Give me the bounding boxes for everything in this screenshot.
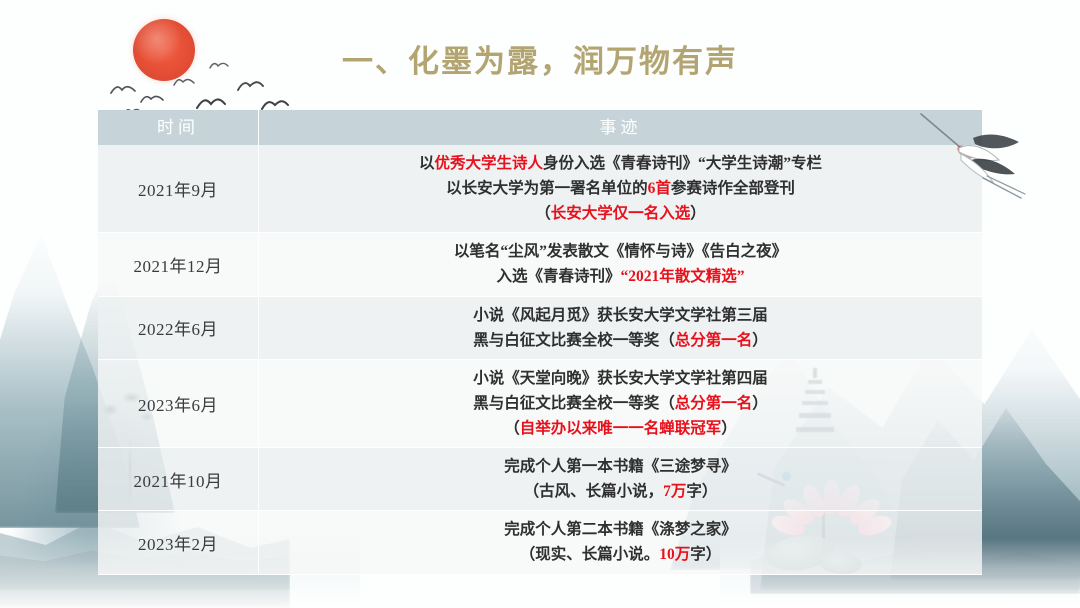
plain-text: 字）: [686, 483, 717, 500]
plain-text: 以笔名“尘风”发表散文《情怀与诗》《告白之夜》: [454, 243, 787, 260]
table-row: 2021年12月以笔名“尘风”发表散文《情怀与诗》《告白之夜》入选《青春诗刊》“…: [98, 233, 982, 296]
deed-line: 黑与白征文比赛全校一等奖（总分第一名）: [263, 328, 978, 353]
page-title: 一、化墨为露，润万物有声: [0, 36, 1080, 81]
bird-icon: [110, 82, 136, 96]
cell-deed: 完成个人第二本书籍《涤梦之家》（现实、长篇小说。10万字）: [259, 511, 983, 574]
plain-text: 以长安大学为第一署名单位的: [446, 180, 648, 197]
table-row: 2021年10月完成个人第一本书籍《三途梦寻》（古风、长篇小说，7万字）: [98, 448, 982, 511]
deed-line: 完成个人第二本书籍《涤梦之家》: [263, 517, 978, 542]
deed-line: （自举办以来唯一一名蝉联冠军）: [263, 416, 978, 441]
table-header-row: 时间 事迹: [98, 110, 982, 145]
bird-icon: [196, 95, 226, 111]
deed-line: 完成个人第一本书籍《三途梦寻》: [263, 454, 978, 479]
highlighted-text: “2021年散文精选”: [621, 268, 745, 285]
deed-line: 入选《青春诗刊》“2021年散文精选”: [263, 264, 978, 289]
plain-text: （: [535, 205, 551, 222]
slide-canvas: 一、化墨为露，润万物有声 时间 事迹 2021年9月以优秀大学生诗人身份入选《青…: [0, 0, 1080, 608]
plain-text: 完成个人第一本书籍《三途梦寻》: [504, 458, 737, 475]
cell-deed: 小说《天堂向晚》获长安大学文学社第四届黑与白征文比赛全校一等奖（总分第一名）（自…: [259, 359, 983, 447]
table-row: 2023年6月小说《天堂向晚》获长安大学文学社第四届黑与白征文比赛全校一等奖（总…: [98, 359, 982, 447]
cell-time: 2023年6月: [98, 359, 259, 447]
deed-line: （现实、长篇小说。10万字）: [263, 542, 978, 567]
table-body: 2021年9月以优秀大学生诗人身份入选《青春诗刊》“大学生诗潮”专栏以长安大学为…: [98, 145, 982, 574]
deed-line: 小说《风起月觅》获长安大学文学社第三届: [263, 303, 978, 328]
cell-time: 2022年6月: [98, 296, 259, 359]
column-header-deed: 事迹: [259, 110, 983, 145]
plain-text: 身份入选《青春诗刊》“大学生诗潮”专栏: [543, 155, 822, 172]
deed-line: 以长安大学为第一署名单位的6首参赛诗作全部登刊: [263, 176, 978, 201]
table-row: 2023年2月完成个人第二本书籍《涤梦之家》（现实、长篇小说。10万字）: [98, 511, 982, 574]
plain-text: 字）: [690, 546, 721, 563]
highlighted-text: 6首: [648, 180, 671, 197]
plain-text: 小说《天堂向晚》获长安大学文学社第四届: [473, 370, 768, 387]
table-head: 时间 事迹: [98, 110, 982, 145]
cell-time: 2021年12月: [98, 233, 259, 296]
cell-deed: 小说《风起月觅》获长安大学文学社第三届黑与白征文比赛全校一等奖（总分第一名）: [259, 296, 983, 359]
cell-deed: 完成个人第一本书籍《三途梦寻》（古风、长篇小说，7万字）: [259, 448, 983, 511]
plain-text: （古风、长篇小说，: [524, 483, 664, 500]
plain-text: 黑与白征文比赛全校一等奖（: [473, 332, 675, 349]
plain-text: ）: [721, 420, 737, 437]
plain-text: ）: [752, 332, 768, 349]
plain-text: （现实、长篇小说。: [520, 546, 660, 563]
cell-time: 2021年9月: [98, 145, 259, 233]
bird-icon: [140, 92, 164, 105]
plain-text: 入选《青春诗刊》: [496, 268, 620, 285]
deed-line: 以优秀大学生诗人身份入选《青春诗刊》“大学生诗潮”专栏: [263, 151, 978, 176]
cell-deed: 以优秀大学生诗人身份入选《青春诗刊》“大学生诗潮”专栏以长安大学为第一署名单位的…: [259, 145, 983, 233]
achievements-table-container: 时间 事迹 2021年9月以优秀大学生诗人身份入选《青春诗刊》“大学生诗潮”专栏…: [98, 110, 982, 575]
plain-text: 以: [419, 155, 435, 172]
plain-text: （: [504, 420, 520, 437]
plain-text: 黑与白征文比赛全校一等奖（: [473, 395, 675, 412]
column-header-time: 时间: [98, 110, 259, 145]
highlighted-text: 自举办以来唯一一名蝉联冠军: [520, 420, 722, 437]
highlighted-text: 长安大学仅一名入选: [551, 205, 691, 222]
table-row: 2021年9月以优秀大学生诗人身份入选《青春诗刊》“大学生诗潮”专栏以长安大学为…: [98, 145, 982, 233]
highlighted-text: 7万: [663, 483, 686, 500]
plain-text: 小说《风起月觅》获长安大学文学社第三届: [473, 307, 768, 324]
plain-text: ）: [752, 395, 768, 412]
plain-text: 完成个人第二本书籍《涤梦之家》: [504, 521, 737, 538]
highlighted-text: 总分第一名: [675, 395, 753, 412]
deed-line: 小说《天堂向晚》获长安大学文学社第四届: [263, 366, 978, 391]
cell-time: 2023年2月: [98, 511, 259, 574]
cell-time: 2021年10月: [98, 448, 259, 511]
deed-line: 黑与白征文比赛全校一等奖（总分第一名）: [263, 391, 978, 416]
table-row: 2022年6月小说《风起月觅》获长安大学文学社第三届黑与白征文比赛全校一等奖（总…: [98, 296, 982, 359]
achievements-table: 时间 事迹 2021年9月以优秀大学生诗人身份入选《青春诗刊》“大学生诗潮”专栏…: [98, 110, 982, 575]
deed-line: 以笔名“尘风”发表散文《情怀与诗》《告白之夜》: [263, 239, 978, 264]
highlighted-text: 优秀大学生诗人: [434, 155, 543, 172]
plain-text: ）: [690, 205, 706, 222]
deed-line: （长安大学仅一名入选）: [263, 201, 978, 226]
highlighted-text: 总分第一名: [675, 332, 753, 349]
cell-deed: 以笔名“尘风”发表散文《情怀与诗》《告白之夜》入选《青春诗刊》“2021年散文精…: [259, 233, 983, 296]
highlighted-text: 10万: [659, 546, 690, 563]
plain-text: 参赛诗作全部登刊: [671, 180, 795, 197]
deed-line: （古风、长篇小说，7万字）: [263, 479, 978, 504]
